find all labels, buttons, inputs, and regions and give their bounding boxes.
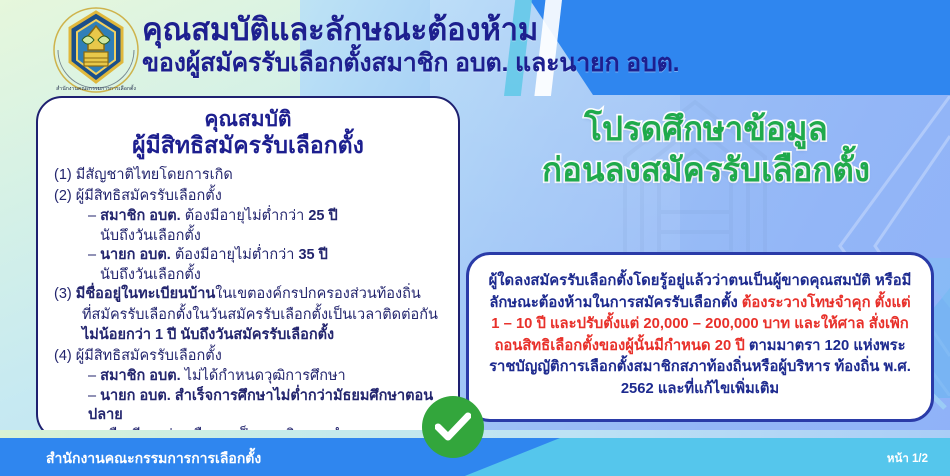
footer-page-label: หน้า 1/2 — [887, 450, 928, 468]
sub-dash: – — [88, 368, 96, 384]
svg-text:สำนักงานคณะกรรมการการเลือกตั้ง: สำนักงานคณะกรรมการการเลือกตั้ง — [56, 84, 136, 92]
qualification-card: คุณสมบัติ ผู้มีสิทธิสมัครรับเลือกตั้ง (1… — [36, 96, 460, 440]
item-number: (1) — [54, 167, 72, 183]
cta-line-2: ก่อนลงสมัครรับเลือกตั้ง — [462, 149, 950, 190]
sub-item: – สมาชิก อบต. ไม่ได้กำหนดวุฒิการศึกษา — [54, 367, 442, 387]
sub-bold-head: นายก อบต. สำเร็จการศึกษาไม่ต่ำกว่ามัธยมศ… — [88, 388, 433, 424]
sub-bold-head: สมาชิก อบต. — [100, 208, 181, 224]
sub-item: – นายก อบต. ต้องมีอายุไม่ต่ำกว่า 35 ปี — [54, 246, 442, 266]
card-title-line-1: คุณสมบัติ — [54, 108, 442, 132]
sub-bold-head: นายก อบต. — [100, 247, 171, 263]
item-number: (2) — [54, 188, 72, 204]
item-number: (3) — [54, 286, 72, 302]
item-line-3: ไม่น้อยกว่า 1 ปี นับถึงวันสมัครรับเลือกต… — [54, 326, 442, 346]
ect-emblem-logo: สำนักงานคณะกรรมการการเลือกตั้ง — [52, 6, 140, 94]
sub-mid: ต้องมีอายุไม่ต่ำกว่า — [181, 208, 309, 224]
sub-mid: ไม่ได้กำหนดวุฒิการศึกษา — [181, 368, 346, 384]
list-item: (2) ผู้มีสิทธิสมัครรับเลือกตั้ง — [54, 187, 442, 207]
cta-line-1: โปรดศึกษาข้อมูล — [462, 108, 950, 149]
penalty-seg-1: ผู้ใดลงสมัครรับเลือกตั้งโดยรู้อยู่แล้วว่… — [489, 273, 871, 289]
sub-dash: – — [88, 247, 96, 263]
poster-root: สำนักงานคณะกรรมการการเลือกตั้ง คุณสมบัติ… — [0, 0, 950, 476]
item-text: ในเขตองค์กรปกครองส่วนท้องถิ่น — [215, 286, 421, 302]
item-number: (4) — [54, 348, 72, 364]
item-text: มีสัญชาติไทยโดยการเกิด — [76, 167, 233, 183]
sub-bold-tail: 35 ปี — [298, 247, 327, 263]
check-mark-icon — [422, 396, 484, 458]
sub-item-continuation: นับถึงวันเลือกตั้ง — [54, 266, 442, 286]
sub-item-continuation: นับถึงวันเลือกตั้ง — [54, 227, 442, 247]
sub-item: – นายก อบต. สำเร็จการศึกษาไม่ต่ำกว่ามัธย… — [54, 387, 442, 426]
title-line-1: คุณสมบัติและลักษณะต้องห้าม — [142, 12, 782, 48]
call-to-action-heading: โปรดศึกษาข้อมูล ก่อนลงสมัครรับเลือกตั้ง — [462, 108, 950, 190]
penalty-seg-3: ต้องระวางโทษจำคุก — [742, 295, 871, 311]
item-text: ผู้มีสิทธิสมัครรับเลือกตั้ง — [76, 348, 222, 364]
penalty-info-box: ผู้ใดลงสมัครรับเลือกตั้งโดยรู้อยู่แล้วว่… — [466, 252, 934, 422]
footer-org-name: สำนักงานคณะกรรมการการเลือกตั้ง — [46, 448, 261, 470]
sub-bold-tail: 25 ปี — [308, 208, 337, 224]
list-item: (3) มีชื่ออยู่ในทะเบียนบ้านในเขตองค์กรปก… — [54, 285, 442, 305]
page-title: คุณสมบัติและลักษณะต้องห้าม ของผู้สมัครรั… — [142, 12, 782, 78]
sub-dash: – — [88, 388, 96, 404]
sub-bold-head: สมาชิก อบต. — [100, 368, 181, 384]
sub-mid: ต้องมีอายุไม่ต่ำกว่า — [171, 247, 299, 263]
sub-item: – สมาชิก อบต. ต้องมีอายุไม่ต่ำกว่า 25 ปี — [54, 207, 442, 227]
card-title: คุณสมบัติ ผู้มีสิทธิสมัครรับเลือกตั้ง — [54, 108, 442, 159]
card-title-line-2: ผู้มีสิทธิสมัครรับเลือกตั้ง — [54, 132, 442, 159]
item-text: ผู้มีสิทธิสมัครรับเลือกตั้ง — [76, 188, 222, 204]
item-bold-prefix: มีชื่ออยู่ในทะเบียนบ้าน — [76, 286, 215, 302]
title-line-2: ของผู้สมัครรับเลือกตั้งสมาชิก อบต. และนา… — [142, 48, 782, 78]
list-item: (1) มีสัญชาติไทยโดยการเกิด — [54, 166, 442, 186]
item-line-2: ที่สมัครรับเลือกตั้งในวันสมัครรับเลือกตั… — [54, 306, 442, 326]
penalty-seg-6: ตามมาตรา 120 — [749, 338, 849, 354]
list-item: (4) ผู้มีสิทธิสมัครรับเลือกตั้ง — [54, 347, 442, 367]
penalty-text: ผู้ใดลงสมัครรับเลือกตั้งโดยรู้อยู่แล้วว่… — [485, 271, 915, 400]
qualification-list: (1) มีสัญชาติไทยโดยการเกิด (2) ผู้มีสิทธ… — [54, 166, 442, 465]
sub-dash: – — [88, 208, 96, 224]
